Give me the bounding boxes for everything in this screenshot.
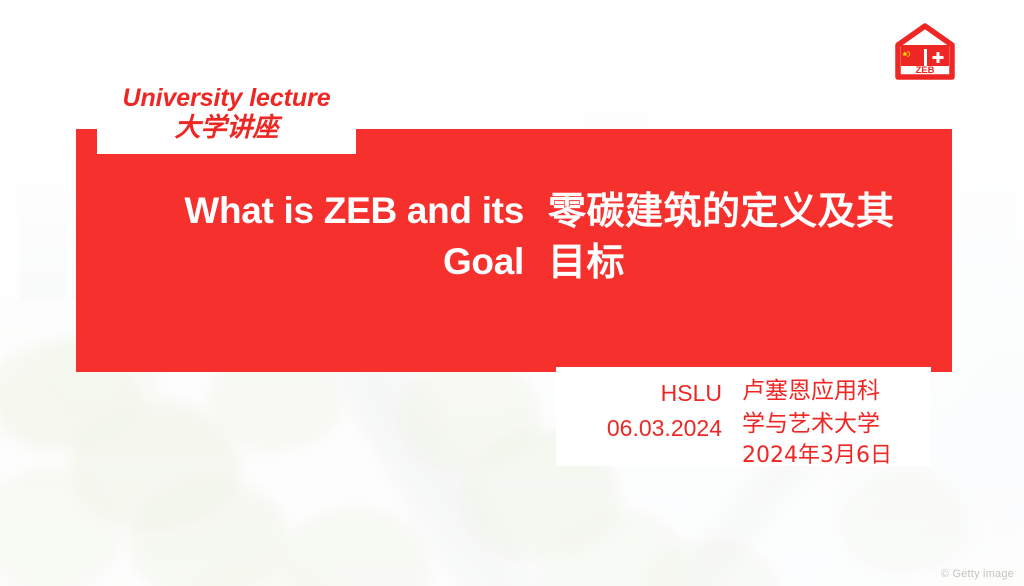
slide-title: What is ZEB and its Goal 零碳建筑的定义及其 目标 <box>76 186 952 287</box>
switzerland-flag-icon <box>927 49 949 66</box>
institution-chinese-line1: 卢塞恩应用科 <box>742 375 925 408</box>
zeb-logo: ZEB <box>895 23 955 80</box>
presenter-info-box: HSLU 06.03.2024 卢塞恩应用科 学与艺术大学 2024年3月6日 <box>556 367 931 466</box>
presentation-date: 06.03.2024 <box>556 411 722 446</box>
getty-watermark: © Getty image <box>941 568 1014 580</box>
lecture-label-english: University lecture <box>107 86 346 112</box>
title-slide: University lecture 大学讲座 What is ZEB and … <box>0 0 1024 586</box>
zeb-logo-text: ZEB <box>916 65 935 76</box>
presenter-info-english: HSLU 06.03.2024 <box>556 371 726 445</box>
title-english-line1: What is ZEB and its <box>76 186 524 237</box>
institution-chinese-line2: 学与艺术大学 <box>742 408 925 441</box>
lecture-label-chinese: 大学讲座 <box>107 115 346 142</box>
china-flag-icon <box>901 49 924 66</box>
presenter-info-chinese: 卢塞恩应用科 学与艺术大学 2024年3月6日 <box>726 371 925 472</box>
title-chinese: 零碳建筑的定义及其 目标 <box>528 186 952 287</box>
institution-abbreviation: HSLU <box>556 376 722 411</box>
title-english-line2: Goal <box>76 237 524 288</box>
title-english: What is ZEB and its Goal <box>76 186 528 287</box>
title-chinese-line2: 目标 <box>548 237 952 288</box>
lecture-label-box: University lecture 大学讲座 <box>97 82 356 154</box>
title-chinese-line1: 零碳建筑的定义及其 <box>548 186 952 237</box>
presentation-date-chinese: 2024年3月6日 <box>742 440 925 471</box>
